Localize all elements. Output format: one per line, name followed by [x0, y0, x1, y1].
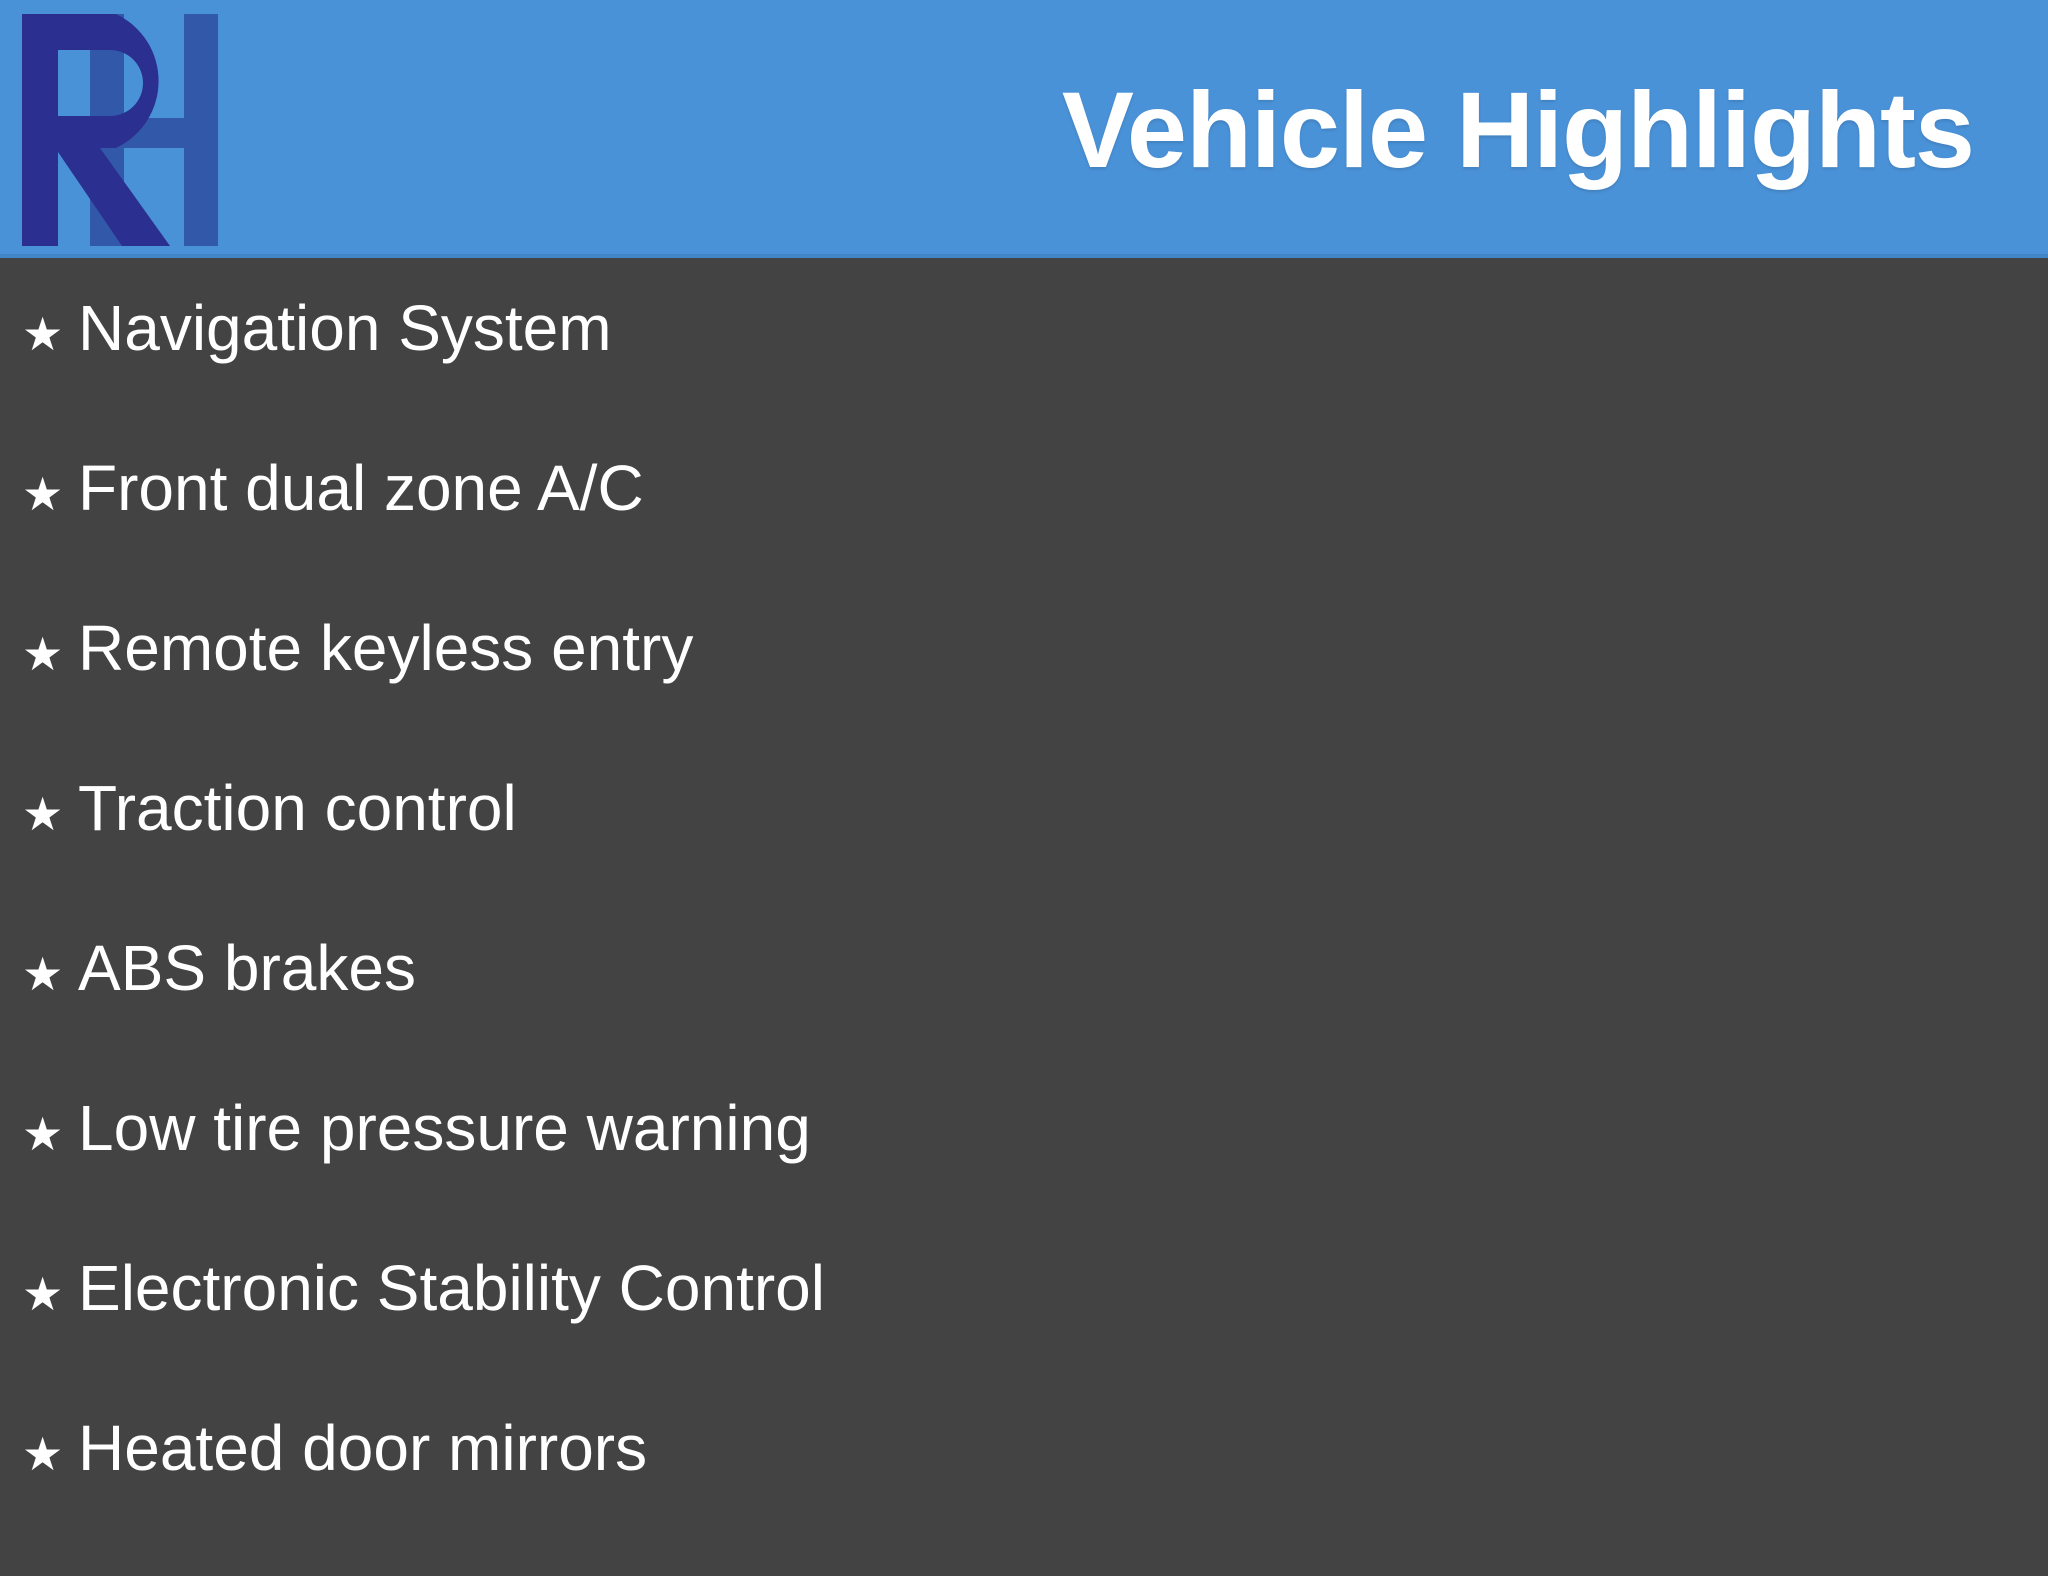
rh-monogram-logo[interactable]	[4, 0, 264, 258]
highlight-label: Traction control	[78, 776, 517, 840]
star-icon: ★	[22, 951, 78, 997]
list-item: ★ Low tire pressure warning	[0, 1096, 2048, 1256]
vehicle-highlights-list: ★ Navigation System ★ Front dual zone A/…	[0, 258, 2048, 1536]
highlight-label: Remote keyless entry	[78, 616, 693, 680]
highlight-label: Heated door mirrors	[78, 1416, 647, 1480]
list-item: ★ Heated door mirrors	[0, 1416, 2048, 1576]
star-icon: ★	[22, 471, 78, 517]
star-icon: ★	[22, 1111, 78, 1157]
list-item: ★ Traction control	[0, 776, 2048, 936]
header-bar: Vehicle Highlights	[0, 0, 2048, 258]
list-item: ★ Electronic Stability Control	[0, 1256, 2048, 1416]
star-icon: ★	[22, 631, 78, 677]
list-item: ★ Remote keyless entry	[0, 616, 2048, 776]
highlight-label: Low tire pressure warning	[78, 1096, 811, 1160]
star-icon: ★	[22, 1431, 78, 1477]
highlight-label: Electronic Stability Control	[78, 1256, 825, 1320]
highlight-label: Navigation System	[78, 296, 612, 360]
vehicle-highlights-slide: Vehicle Highlights ★ Navigation System ★…	[0, 0, 2048, 1536]
star-icon: ★	[22, 791, 78, 837]
page-title: Vehicle Highlights	[1062, 76, 1974, 184]
highlight-label: ABS brakes	[78, 936, 416, 1000]
list-item: ★ Navigation System	[0, 296, 2048, 456]
highlight-label: Front dual zone A/C	[78, 456, 644, 520]
list-item: ★ ABS brakes	[0, 936, 2048, 1096]
list-item: ★ Front dual zone A/C	[0, 456, 2048, 616]
star-icon: ★	[22, 311, 78, 357]
star-icon: ★	[22, 1271, 78, 1317]
